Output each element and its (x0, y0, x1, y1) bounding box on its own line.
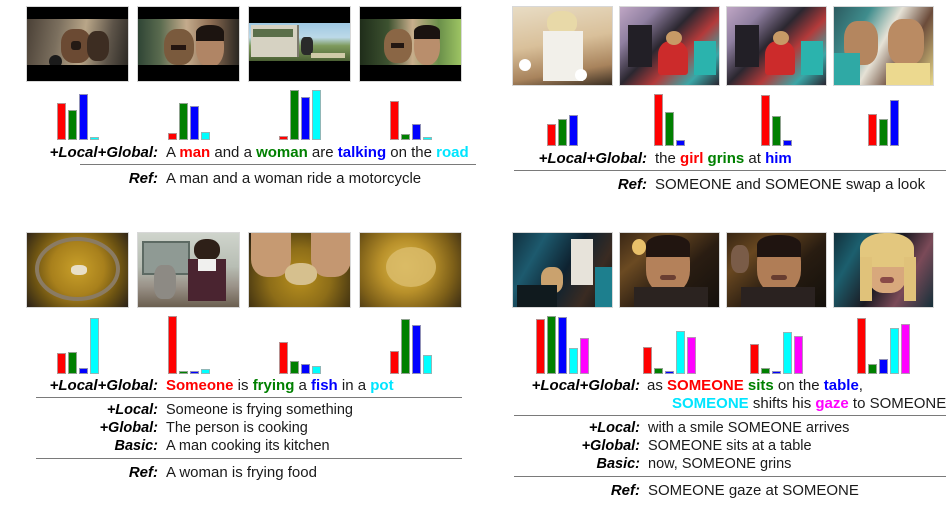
caption-row-local-global-line2: SOMEONE shifts his gaze to SOMEONE (512, 395, 952, 412)
video-frame (726, 6, 827, 86)
bar (580, 338, 589, 374)
bar (654, 94, 663, 146)
caption-token: SOMEONE (672, 395, 749, 412)
frame-strip (512, 232, 952, 308)
bar-group (248, 90, 351, 140)
caption-label: Basic: (18, 438, 158, 454)
caption-row-ref: Ref: SOMEONE gaze at SOMEONE (512, 482, 952, 499)
bar (558, 317, 567, 374)
bar (301, 364, 310, 374)
caption-token: , (859, 377, 863, 394)
ref-text: SOMEONE and SOMEONE swap a look (655, 176, 925, 193)
video-frame (359, 232, 462, 308)
bar (190, 106, 199, 140)
caption-text: Someone is frying something (166, 402, 353, 418)
bar-group (359, 316, 462, 374)
bar-group (137, 90, 240, 140)
bar (423, 137, 432, 140)
bar (536, 319, 545, 374)
caption-row-ref: Ref: SOMEONE and SOMEONE swap a look (512, 176, 952, 193)
divider (514, 476, 946, 477)
bar-group (137, 316, 240, 374)
video-frame (512, 6, 613, 86)
caption-token: a (294, 377, 311, 394)
caption-text: A man cooking its kitchen (166, 438, 330, 454)
ref-text: SOMEONE gaze at SOMEONE (648, 482, 859, 499)
caption-token: A (166, 144, 179, 161)
bar (547, 316, 556, 374)
caption-row-ref: Ref: A woman is frying food (18, 464, 480, 481)
caption-token: frying (253, 377, 295, 394)
caption-token: and a (210, 144, 256, 161)
bar (57, 103, 66, 140)
ref-label: Ref: (18, 464, 158, 481)
bar (201, 369, 210, 374)
bar (868, 114, 877, 146)
caption-token: fish (311, 377, 338, 394)
frame-strip (26, 232, 480, 308)
caption-token: is (234, 377, 253, 394)
caption-label: +Local: (512, 420, 640, 436)
bar (290, 90, 299, 140)
bar (558, 119, 567, 146)
caption-label: +Global: (18, 420, 158, 436)
panel-top-right: +Local+Global: the girl grins at him Ref… (512, 6, 952, 193)
caption-label: Basic: (512, 456, 640, 472)
bar (547, 124, 556, 146)
bar (301, 97, 310, 140)
bar (179, 103, 188, 140)
caption-token: on the (386, 144, 436, 161)
caption-token: at (744, 150, 765, 167)
caption-text: SOMEONE sits at a table (648, 438, 812, 454)
bar (312, 366, 321, 374)
bar (890, 328, 899, 374)
panel-top-left: +Local+Global: A man and a woman are tal… (18, 6, 480, 187)
caption-label: +Local+Global: (18, 144, 158, 161)
bar (761, 368, 770, 374)
frame-strip (26, 6, 480, 82)
bar (794, 336, 803, 374)
caption-text: as SOMEONE sits on the table, (647, 377, 863, 394)
video-frame (619, 6, 720, 86)
bar (79, 368, 88, 374)
bar (57, 353, 66, 374)
bar (879, 359, 888, 374)
video-frame (512, 232, 613, 308)
caption-token: table (824, 377, 859, 394)
caption-text: with a smile SOMEONE arrives (648, 420, 849, 436)
ref-label: Ref: (512, 176, 647, 193)
attention-bar-charts (26, 316, 480, 374)
bar (868, 364, 877, 374)
video-frame (833, 232, 934, 308)
bar (390, 351, 399, 374)
bar (90, 318, 99, 374)
video-frame (248, 232, 351, 308)
bar (772, 116, 781, 146)
video-frame (26, 232, 129, 308)
caption-token: him (765, 150, 792, 167)
caption-row-local-global: +Local+Global: Someone is frying a fish … (18, 377, 480, 394)
caption-row-basic: Basic: A man cooking its kitchen (18, 438, 480, 454)
frame-strip (512, 6, 952, 86)
caption-token: shifts his (749, 395, 816, 412)
caption-token: SOMEONE (667, 377, 744, 394)
bar (90, 137, 99, 140)
caption-token: Someone (166, 377, 234, 394)
panel-bottom-right: +Local+Global: as SOMEONE sits on the ta… (512, 232, 952, 499)
bar (676, 140, 685, 146)
caption-text: the girl grins at him (655, 150, 792, 167)
bar-group (619, 316, 720, 374)
bar-group (512, 316, 613, 374)
caption-row-local-global: +Local+Global: the girl grins at him (512, 150, 952, 167)
bar (79, 94, 88, 140)
bar (423, 355, 432, 374)
video-frame (137, 232, 240, 308)
caption-token: the (655, 150, 680, 167)
caption-row-global: +Global: The person is cooking (18, 420, 480, 436)
panel-bottom-left: +Local+Global: Someone is frying a fish … (18, 232, 480, 481)
divider (80, 164, 476, 165)
bar (750, 344, 759, 374)
bar (279, 342, 288, 374)
bar-group (726, 94, 827, 146)
extra-caption-rows: +Local: Someone is frying something +Glo… (18, 402, 480, 454)
bar (412, 124, 421, 140)
bar-group (726, 316, 827, 374)
divider (514, 415, 946, 416)
video-frame (726, 232, 827, 308)
attention-bar-charts (26, 90, 480, 140)
caption-token: man (179, 144, 210, 161)
attention-bar-charts (512, 94, 952, 146)
caption-token: woman (256, 144, 308, 161)
bar (654, 368, 663, 374)
divider (36, 397, 462, 398)
video-frame (137, 6, 240, 82)
bar-group (833, 316, 934, 374)
bar (569, 348, 578, 374)
bar (665, 371, 674, 374)
bar (312, 90, 321, 140)
caption-text: Someone is frying a fish in a pot (166, 377, 394, 394)
caption-row-local: +Local: with a smile SOMEONE arrives (512, 420, 952, 436)
caption-token: gaze (815, 395, 848, 412)
extra-caption-rows: +Local: with a smile SOMEONE arrives +Gl… (512, 420, 952, 472)
video-frame (26, 6, 129, 82)
divider (514, 170, 946, 171)
bar (901, 324, 910, 374)
caption-token: are (308, 144, 338, 161)
attention-bar-charts (512, 316, 952, 374)
bar (401, 134, 410, 140)
bar (761, 95, 770, 146)
bar (857, 318, 866, 374)
caption-label: +Local: (18, 402, 158, 418)
caption-token: on the (774, 377, 824, 394)
caption-row-local: +Local: Someone is frying something (18, 402, 480, 418)
caption-token: girl (680, 150, 703, 167)
caption-token: grins (708, 150, 745, 167)
bar (772, 371, 781, 374)
caption-token: road (436, 144, 469, 161)
caption-label: +Local+Global: (18, 377, 158, 394)
bar (643, 347, 652, 374)
caption-label: +Local+Global: (512, 377, 640, 394)
ref-text: A man and a woman ride a motorcycle (166, 170, 421, 187)
video-frame (619, 232, 720, 308)
bar-group (248, 316, 351, 374)
caption-row-ref: Ref: A man and a woman ride a motorcycle (18, 170, 480, 187)
caption-token: in a (338, 377, 371, 394)
bar (569, 115, 578, 146)
video-frame (248, 6, 351, 82)
caption-text: The person is cooking (166, 420, 308, 436)
caption-row-local-global: +Local+Global: as SOMEONE sits on the ta… (512, 377, 952, 394)
bar (783, 332, 792, 374)
bar (879, 119, 888, 146)
bar (201, 132, 210, 140)
caption-label: +Global: (512, 438, 640, 454)
bar-group (833, 94, 934, 146)
bar (401, 319, 410, 374)
bar-group (359, 90, 462, 140)
caption-text: SOMEONE shifts his gaze to SOMEONE (672, 395, 946, 412)
caption-row-local-global: +Local+Global: A man and a woman are tal… (18, 144, 480, 161)
bar (168, 133, 177, 140)
bar (390, 101, 399, 140)
bar (68, 352, 77, 374)
bar (68, 110, 77, 140)
caption-label: +Local+Global: (512, 150, 647, 167)
ref-text: A woman is frying food (166, 464, 317, 481)
bar (179, 371, 188, 374)
bar (783, 140, 792, 146)
caption-token: to SOMEONE (849, 395, 947, 412)
divider (36, 458, 462, 459)
video-frame (359, 6, 462, 82)
bar-group (26, 316, 129, 374)
caption-text: A man and a woman are talking on the roa… (166, 144, 469, 161)
caption-token: talking (338, 144, 386, 161)
bar (412, 325, 421, 374)
bar (687, 337, 696, 374)
ref-label: Ref: (512, 482, 640, 499)
caption-row-basic: Basic: now, SOMEONE grins (512, 456, 952, 472)
bar (190, 371, 199, 374)
ref-label: Ref: (18, 170, 158, 187)
bar (279, 136, 288, 140)
video-frame (833, 6, 934, 86)
bar-group (512, 94, 613, 146)
bar-group (26, 90, 129, 140)
bar (168, 316, 177, 374)
bar (665, 112, 674, 146)
bar (676, 331, 685, 374)
caption-token: as (647, 377, 667, 394)
bar-group (619, 94, 720, 146)
caption-token: pot (370, 377, 393, 394)
caption-row-global: +Global: SOMEONE sits at a table (512, 438, 952, 454)
caption-text: now, SOMEONE grins (648, 456, 791, 472)
caption-token: sits (748, 377, 774, 394)
bar (290, 361, 299, 374)
bar (890, 100, 899, 146)
